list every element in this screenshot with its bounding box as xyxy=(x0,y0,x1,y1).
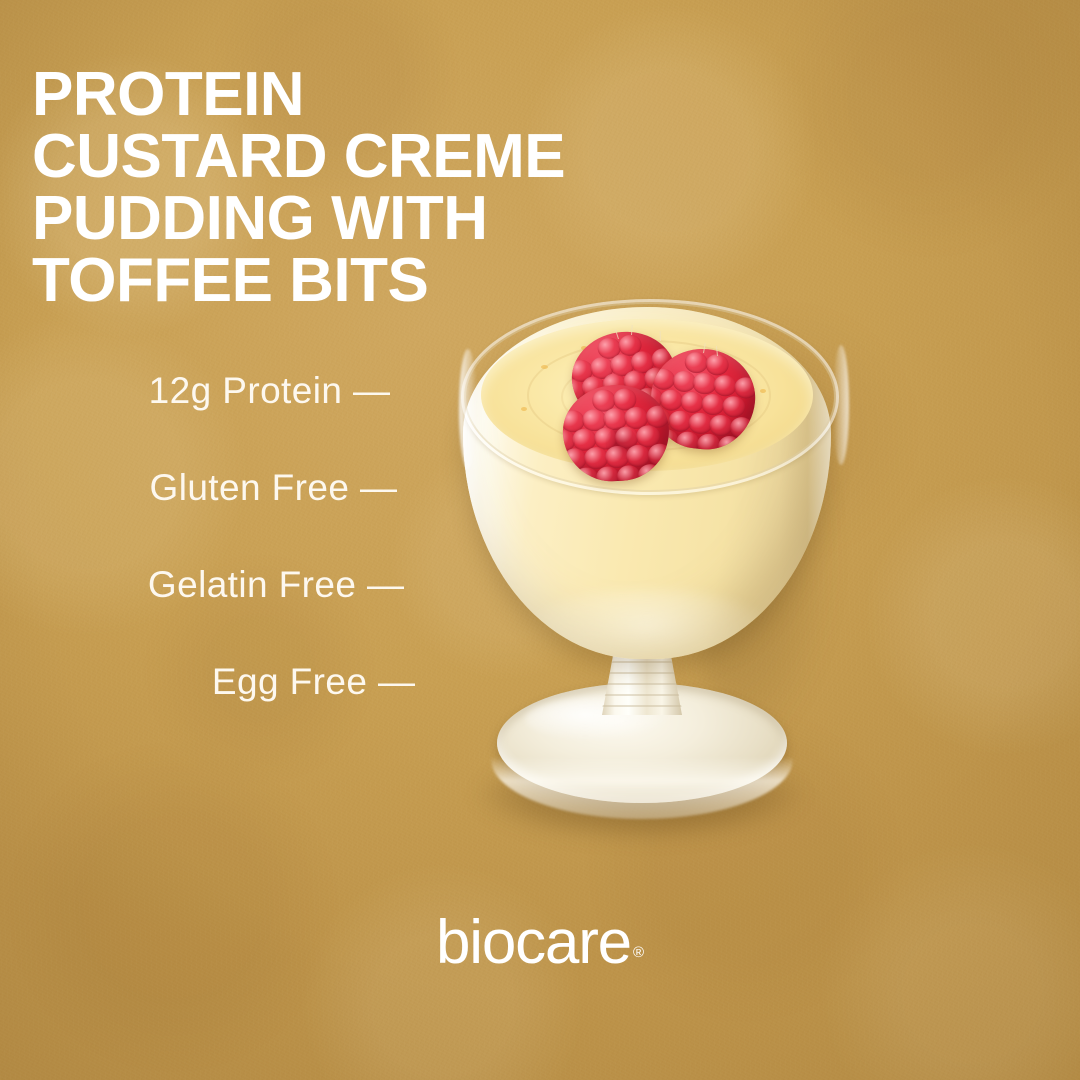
benefit-item-egg-free: Egg Free — xyxy=(40,663,415,700)
headline-line-3: PUDDING WITH xyxy=(32,188,732,250)
benefit-label: 12g Protein xyxy=(149,370,343,411)
glass-rim-right-glint xyxy=(833,345,849,465)
promo-poster: PROTEIN CUSTARD CREME PUDDING WITH TOFFE… xyxy=(0,0,1080,1080)
raspberry-drupelet xyxy=(574,467,599,484)
benefits-list: 12g Protein — Gluten Free — Gelatin Free… xyxy=(40,372,415,700)
headline-line-2: CUSTARD CREME xyxy=(32,126,732,188)
registered-trademark-icon: ® xyxy=(633,944,644,961)
glass-rim-left-glint xyxy=(459,349,477,469)
page-title: PROTEIN CUSTARD CREME PUDDING WITH TOFFE… xyxy=(32,64,732,312)
benefit-dash: — xyxy=(367,564,404,605)
brand-name: biocare xyxy=(436,908,631,977)
glass-stem-rings xyxy=(602,661,682,709)
benefit-dash: — xyxy=(378,661,415,702)
benefit-item-protein: 12g Protein — xyxy=(40,372,415,409)
brand-logo: biocare® xyxy=(0,912,1080,974)
bowl-base-sheen xyxy=(522,589,772,659)
benefit-dash: — xyxy=(360,467,397,508)
benefit-item-gluten-free: Gluten Free — xyxy=(40,469,415,506)
product-photo-dessert-glass xyxy=(455,285,855,845)
headline-line-1: PROTEIN xyxy=(32,64,732,126)
benefit-dash: — xyxy=(353,370,390,411)
benefit-label: Egg Free xyxy=(212,661,367,702)
benefit-item-gelatin-free: Gelatin Free — xyxy=(40,566,415,603)
benefit-label: Gelatin Free xyxy=(148,564,356,605)
benefit-label: Gluten Free xyxy=(150,467,350,508)
